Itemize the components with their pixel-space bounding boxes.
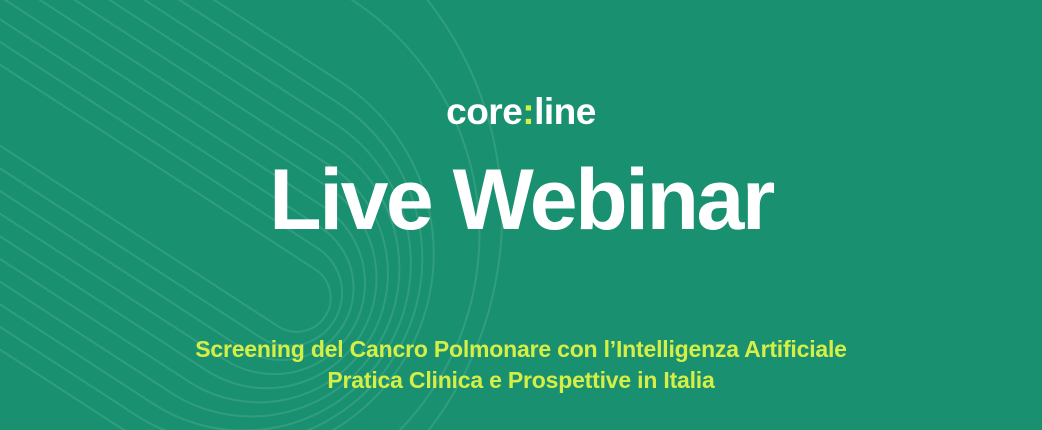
coreline-logo: core:line xyxy=(446,93,596,130)
webinar-banner: core:line Live Webinar Screening del Can… xyxy=(0,0,1042,430)
logo-text-core: core xyxy=(446,91,522,132)
logo-text-line: line xyxy=(534,91,596,132)
logo-colon-icon: : xyxy=(522,91,534,132)
subtitle-line-1: Screening del Cancro Polmonare con l’Int… xyxy=(195,334,847,366)
page-title: Live Webinar xyxy=(269,157,773,243)
subtitle-line-2: Pratica Clinica e Prospettive in Italia xyxy=(195,365,847,397)
banner-subtitle: Screening del Cancro Polmonare con l’Int… xyxy=(195,334,847,397)
banner-content: core:line Live Webinar Screening del Can… xyxy=(0,0,1042,430)
